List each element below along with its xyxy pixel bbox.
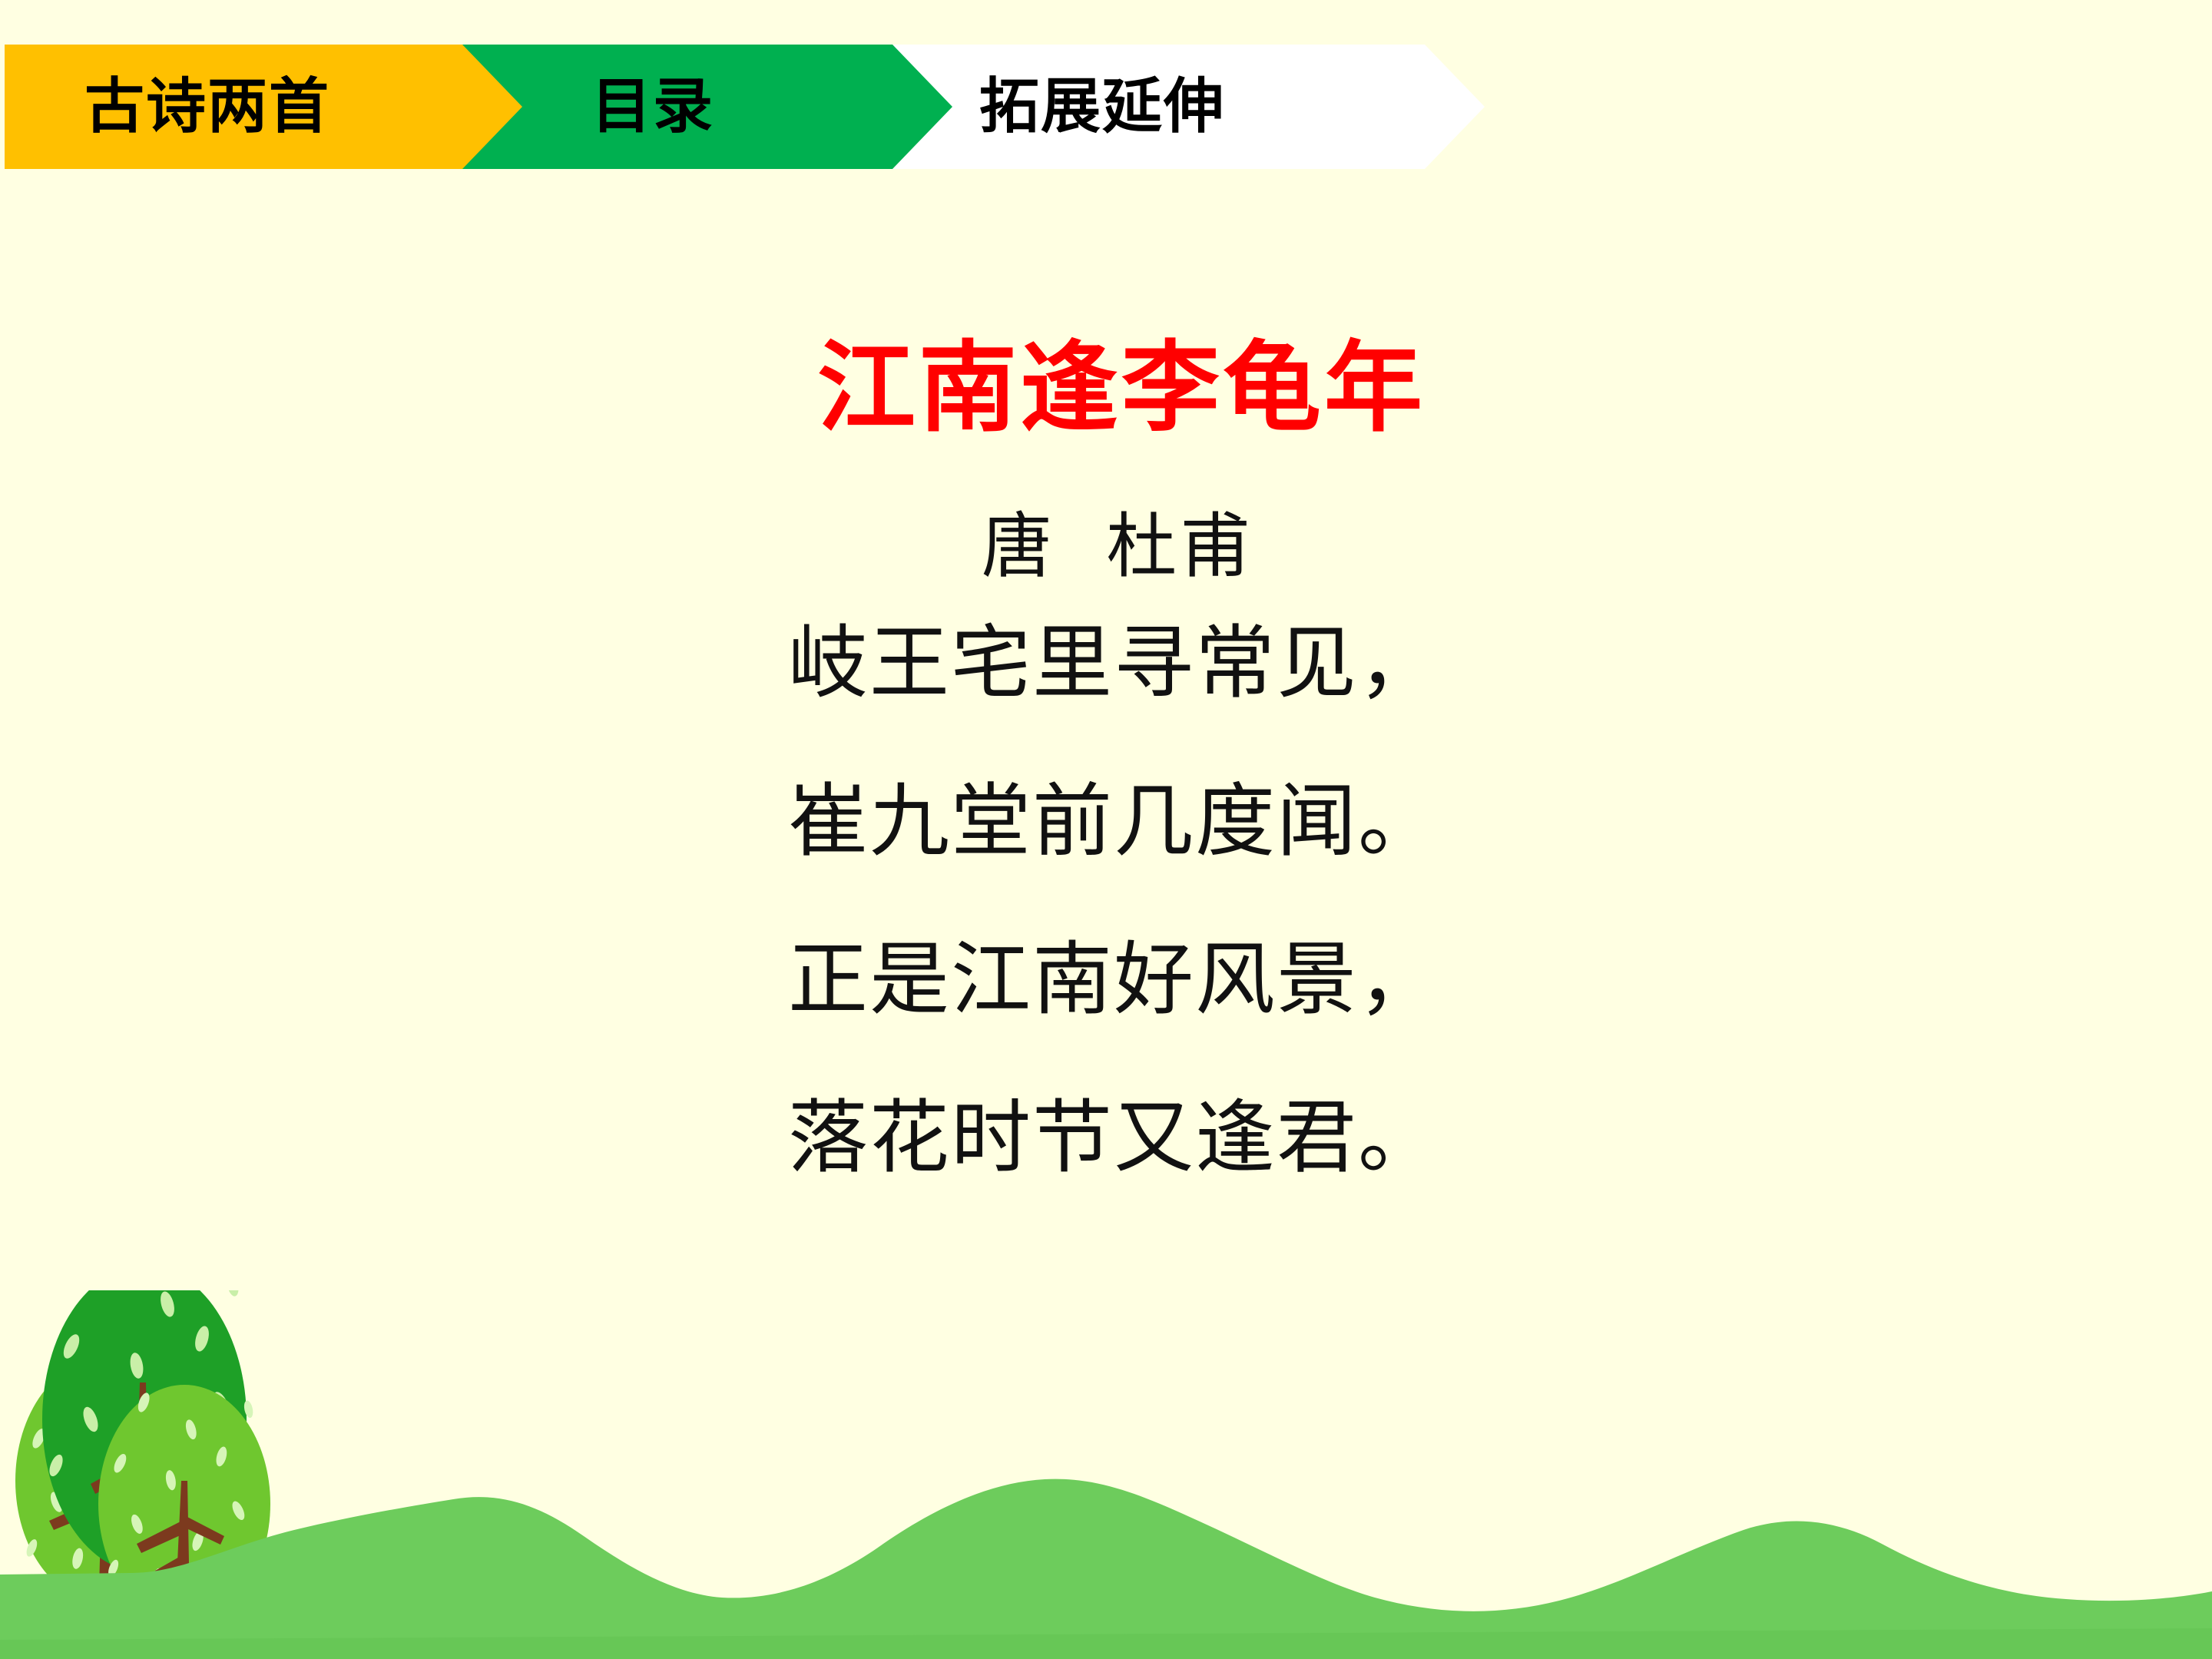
poem-line-4: 落花时节又逢君。 (0, 1097, 2212, 1178)
poem-line-2: 崔九堂前几度闻。 (0, 780, 2212, 862)
poem-author: 唐 杜甫 (0, 504, 2212, 590)
nav-tab-tuozhan-yanshen[interactable]: 拓展延伸 (979, 45, 1225, 169)
poem-title: 江南逢李龟年 (0, 330, 2212, 445)
scenery-illustration (0, 1290, 2212, 1659)
poem-line-1: 岐王宅里寻常见， (0, 622, 2212, 704)
poem-line-3: 正是江南好风景， (0, 939, 2212, 1020)
navigation-chevron-bar: 古诗两首 目录 拓展延伸 (0, 45, 1536, 169)
scenery-decoration (0, 1290, 2212, 1659)
poem-block: 江南逢李龟年 唐 杜甫 岐王宅里寻常见， 崔九堂前几度闻。 正是江南好风景， 落… (0, 330, 2212, 1178)
slide-canvas: 古诗两首 目录 拓展延伸 江南逢李龟年 唐 杜甫 岐王宅里寻常见， 崔九堂前几度… (0, 0, 2212, 1659)
nav-tab-mulu[interactable]: 目录 (591, 45, 714, 169)
nav-tab-gushi-liangshou[interactable]: 古诗两首 (84, 45, 330, 169)
